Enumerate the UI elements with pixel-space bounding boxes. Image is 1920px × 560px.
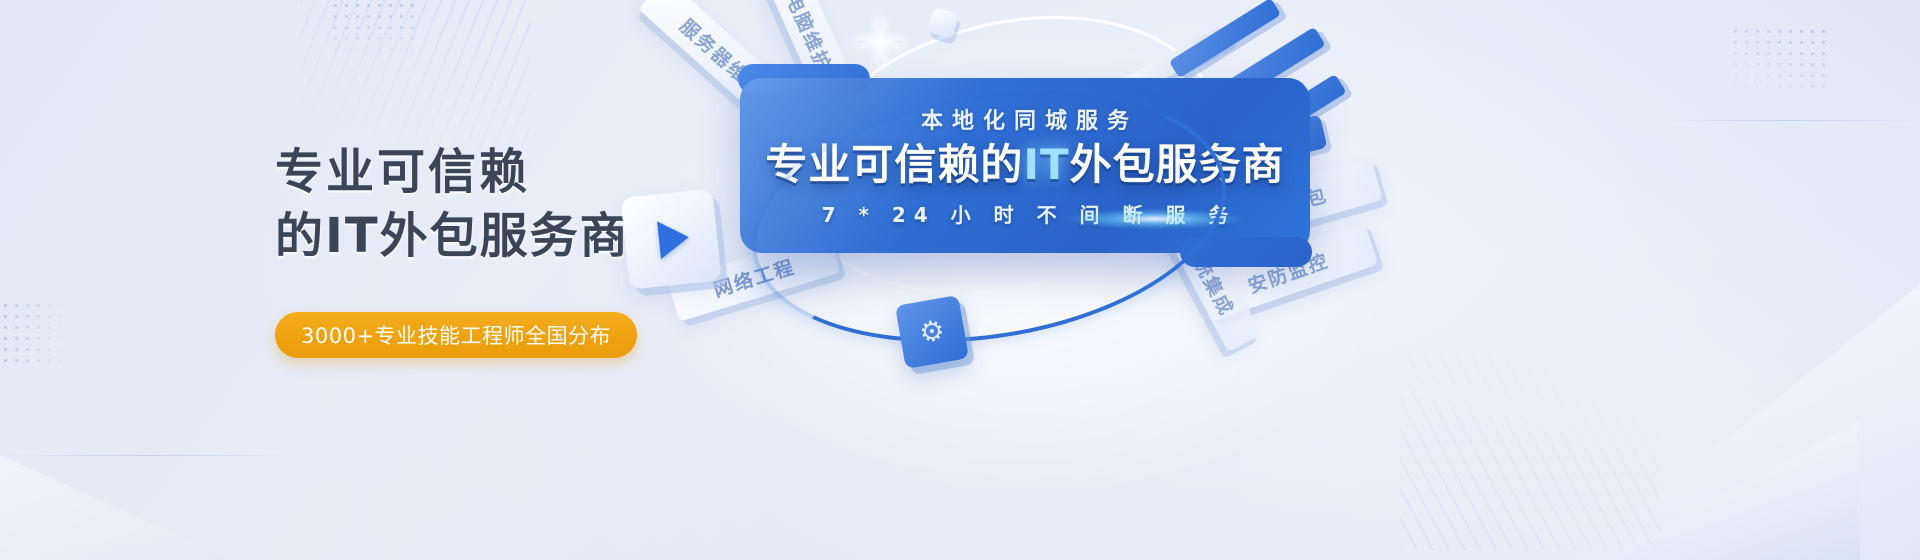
hairline-left: [0, 455, 300, 456]
hero-illustration: 服务器维护 电脑维护 网络工程 IT外包 安防监控 系统集成 本地化同城服务 专…: [600, 0, 1500, 560]
dot-grid-left: [0, 300, 70, 370]
engineer-count-button[interactable]: 3000+专业技能工程师全国分布: [275, 312, 637, 358]
dot-grid-top-left: [330, 0, 420, 60]
promo-banner: 专业可信赖 的IT外包服务商 3000+专业技能工程师全国分布 服务器维护 电脑…: [0, 0, 1920, 560]
dot-grid-top-right: [1730, 26, 1830, 92]
play-cube: [620, 188, 721, 289]
sparkle-icon: [858, 20, 902, 64]
play-icon: [657, 218, 691, 259]
hairline-right: [1660, 120, 1920, 121]
gear-icon: ⚙: [917, 316, 947, 348]
gear-cube: ⚙: [895, 295, 969, 369]
